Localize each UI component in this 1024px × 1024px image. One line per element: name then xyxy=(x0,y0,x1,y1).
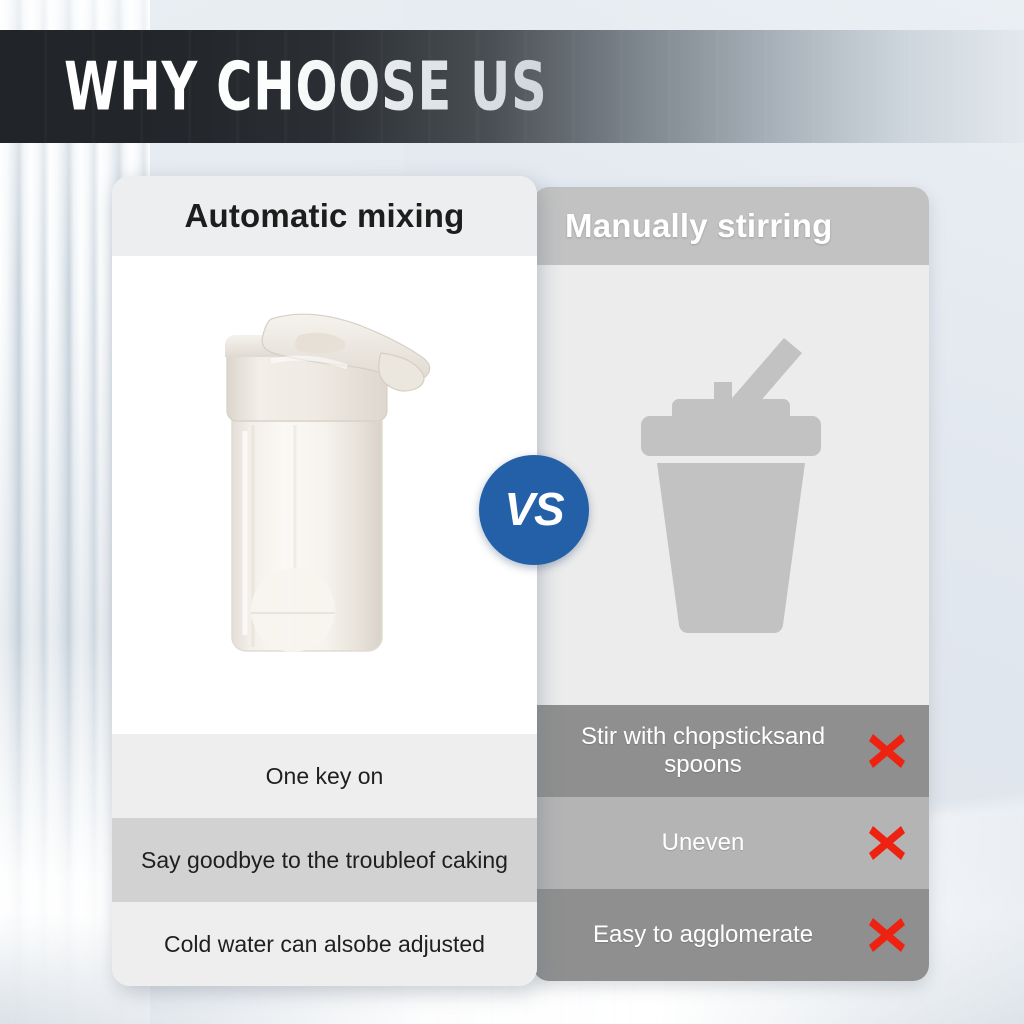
versus-badge-label: VS xyxy=(504,486,563,534)
manual-card-header: Manually stirring xyxy=(533,187,929,265)
list-item: Stir with chopsticksand spoons xyxy=(533,705,929,797)
list-item: Uneven xyxy=(533,797,929,889)
comparison-card-manual: Manually stirring Stir with chopsticksan… xyxy=(533,187,929,981)
manual-feature-label: Easy to agglomerate xyxy=(593,921,813,949)
poster-canvas: WHY CHOOSE US Manually stirring Stir xyxy=(0,0,1024,1024)
automatic-feature-label: One key on xyxy=(266,763,384,790)
red-x-icon xyxy=(867,731,907,771)
takeaway-cup-with-straw-icon xyxy=(606,320,856,650)
comparison-card-automatic: Automatic mixing xyxy=(112,176,537,986)
manual-feature-list: Stir with chopsticksand spoons Uneven Ea… xyxy=(533,705,929,981)
automatic-card-title: Automatic mixing xyxy=(184,197,464,235)
automatic-feature-label: Cold water can alsobe adjusted xyxy=(164,931,485,958)
page-title: WHY CHOOSE US xyxy=(64,53,548,120)
automatic-feature-list: One key on Say goodbye to the troubleof … xyxy=(112,734,537,986)
versus-badge: VS xyxy=(479,455,589,565)
manual-card-title: Manually stirring xyxy=(565,207,832,245)
automatic-feature-label: Say goodbye to the troubleof caking xyxy=(141,847,508,874)
manual-card-media xyxy=(533,265,929,705)
red-x-icon xyxy=(867,915,907,955)
red-x-icon xyxy=(867,823,907,863)
manual-feature-label: Uneven xyxy=(662,829,745,857)
list-item: Say goodbye to the troubleof caking xyxy=(112,818,537,902)
list-item: Easy to agglomerate xyxy=(533,889,929,981)
automatic-card-media xyxy=(112,256,537,734)
shaker-bottle-image xyxy=(175,295,475,695)
list-item: One key on xyxy=(112,734,537,818)
automatic-card-header: Automatic mixing xyxy=(112,176,537,256)
header-banner: WHY CHOOSE US xyxy=(0,30,1024,143)
list-item: Cold water can alsobe adjusted xyxy=(112,902,537,986)
manual-feature-label: Stir with chopsticksand spoons xyxy=(547,723,859,779)
